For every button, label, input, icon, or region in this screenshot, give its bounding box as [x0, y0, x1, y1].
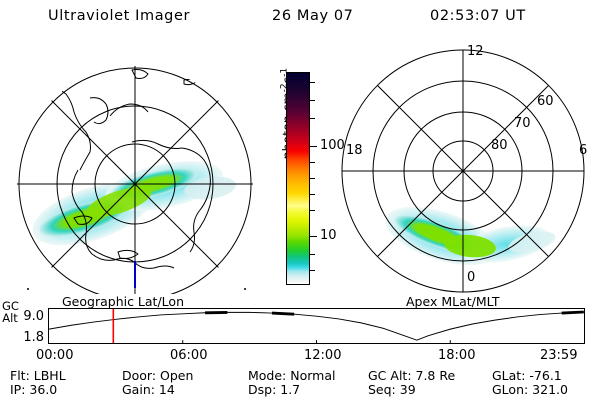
page-title: Ultraviolet Imager: [48, 8, 190, 24]
status-glon: GLon: 321.0: [492, 382, 568, 397]
colorbar-label-10: 10: [320, 229, 337, 242]
status-ip: IP: 36.0: [10, 382, 57, 397]
status-gc-alt: GC Alt: 7.8 Re: [368, 368, 455, 383]
status-gain: Gain: 14: [122, 382, 175, 397]
mlt-label-12: 12: [467, 44, 484, 59]
time-tick-1200: 12:00: [304, 348, 341, 363]
mlt-label-6: 6: [579, 143, 587, 158]
apex-mlt-dial[interactable]: 12 18 6 0 60 70 80: [336, 46, 594, 296]
observation-time: 02:53:07 UT: [430, 8, 526, 24]
status-flt: Flt: LBHL: [10, 368, 66, 383]
status-door: Door: Open: [122, 368, 193, 383]
geographic-plot-title: Geographic Lat/Lon: [62, 294, 184, 309]
time-tick-0000: 00:00: [36, 348, 73, 363]
alt-tick-low: 1.8: [12, 330, 44, 345]
mlat-label-60: 60: [537, 94, 554, 109]
alt-tick-high: 9.0: [12, 309, 44, 324]
mlat-label-80: 80: [491, 138, 508, 153]
status-mode: Mode: Normal: [248, 368, 335, 383]
status-seq: Seq: 39: [368, 382, 416, 397]
time-tick-1800: 18:00: [438, 348, 475, 363]
geographic-aurora-map[interactable]: [14, 46, 256, 294]
orbit-altitude-plot[interactable]: [48, 308, 585, 344]
uvi-summary-window: Ultraviolet Imager 26 May 07 02:53:07 UT: [0, 0, 600, 400]
mlat-label-70: 70: [514, 116, 531, 131]
header-bar: Ultraviolet Imager 26 May 07 02:53:07 UT: [0, 8, 600, 30]
aurora-emission-mlt: [378, 195, 557, 276]
mlt-plot-title: Apex MLat/MLT: [406, 294, 500, 309]
mlt-label-18: 18: [346, 143, 363, 158]
colorbar-legend: photon cm-2s-1 100 10: [258, 58, 332, 296]
status-glat: GLat: -76.1: [492, 368, 562, 383]
colorbar-tick-10: [310, 236, 317, 237]
colorbar-gradient: [286, 72, 310, 285]
time-tick-0600: 06:00: [170, 348, 207, 363]
colorbar-tick-100: [310, 146, 317, 147]
aurora-emission-geo: [25, 152, 237, 258]
corner-dot-right: [244, 288, 246, 290]
mlt-spokes: [342, 50, 584, 292]
status-dsp: Dsp: 1.7: [248, 382, 300, 397]
orbit-data-coverage-segment: [272, 313, 294, 314]
observation-date: 26 May 07: [272, 8, 354, 24]
time-tick-2359: 23:59: [540, 348, 577, 363]
orbit-altitude-trace: [49, 312, 584, 340]
mlt-label-0: 0: [467, 270, 475, 285]
corner-dot-left: [27, 288, 29, 290]
orbit-data-coverage-segment: [562, 312, 584, 313]
